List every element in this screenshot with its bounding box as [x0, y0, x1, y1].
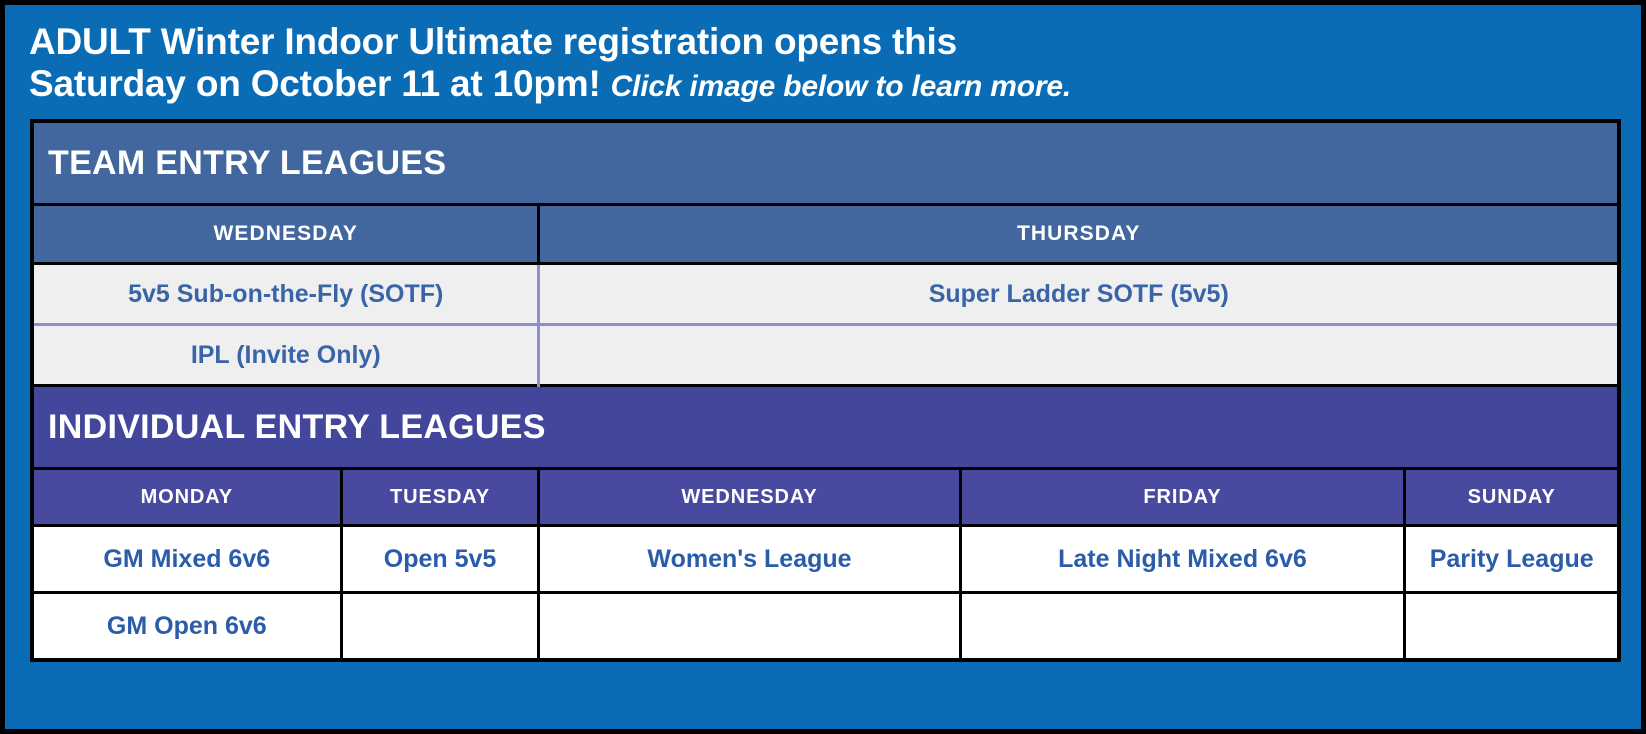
- individual-league-wednesday-1[interactable]: Women's League: [539, 526, 960, 593]
- team-league-row: 5v5 Sub-on-the-Fly (SOTF) Super Ladder S…: [34, 264, 1617, 325]
- poster-frame: ADULT Winter Indoor Ultimate registratio…: [0, 0, 1646, 734]
- team-section-title: TEAM ENTRY LEAGUES: [34, 123, 1617, 205]
- individual-league-sunday-1[interactable]: Parity League: [1405, 526, 1617, 593]
- individual-day-header-sunday: SUNDAY: [1405, 469, 1617, 526]
- headline-line-1: ADULT Winter Indoor Ultimate registratio…: [29, 21, 1619, 63]
- individual-section-title: INDIVIDUAL ENTRY LEAGUES: [34, 386, 1617, 469]
- team-league-thursday-2: [539, 325, 1617, 386]
- team-day-header-wednesday: WEDNESDAY: [34, 205, 539, 264]
- individual-section-header-row: INDIVIDUAL ENTRY LEAGUES: [34, 386, 1617, 469]
- individual-day-header-monday: MONDAY: [34, 469, 341, 526]
- individual-league-wednesday-2: [539, 593, 960, 659]
- individual-day-header-friday: FRIDAY: [960, 469, 1405, 526]
- team-league-row: IPL (Invite Only): [34, 325, 1617, 386]
- league-schedule-table: TEAM ENTRY LEAGUES WEDNESDAY THURSDAY 5v…: [34, 123, 1617, 658]
- cta-text: Click image below to learn more.: [601, 70, 1071, 103]
- individual-league-row: GM Mixed 6v6 Open 5v5 Women's League Lat…: [34, 526, 1617, 593]
- individual-league-row: GM Open 6v6: [34, 593, 1617, 659]
- individual-league-tuesday-2: [341, 593, 539, 659]
- team-league-wednesday-2[interactable]: IPL (Invite Only): [34, 325, 539, 386]
- headline-line-2-text: Saturday on October 11 at 10pm!: [29, 63, 601, 104]
- team-day-header-thursday: THURSDAY: [539, 205, 1617, 264]
- team-day-header-row: WEDNESDAY THURSDAY: [34, 205, 1617, 264]
- individual-league-monday-1[interactable]: GM Mixed 6v6: [34, 526, 341, 593]
- individual-league-friday-1[interactable]: Late Night Mixed 6v6: [960, 526, 1405, 593]
- schedule-table-wrapper: TEAM ENTRY LEAGUES WEDNESDAY THURSDAY 5v…: [30, 119, 1621, 662]
- headline-line-2: Saturday on October 11 at 10pm!Click ima…: [29, 63, 1619, 105]
- team-league-thursday-1[interactable]: Super Ladder SOTF (5v5): [539, 264, 1617, 325]
- individual-league-tuesday-1[interactable]: Open 5v5: [341, 526, 539, 593]
- team-section-header-row: TEAM ENTRY LEAGUES: [34, 123, 1617, 205]
- individual-day-header-tuesday: TUESDAY: [341, 469, 539, 526]
- team-league-wednesday-1[interactable]: 5v5 Sub-on-the-Fly (SOTF): [34, 264, 539, 325]
- individual-day-header-row: MONDAY TUESDAY WEDNESDAY FRIDAY SUNDAY: [34, 469, 1617, 526]
- individual-league-monday-2[interactable]: GM Open 6v6: [34, 593, 341, 659]
- individual-league-friday-2: [960, 593, 1405, 659]
- announcement-banner: ADULT Winter Indoor Ultimate registratio…: [5, 5, 1641, 113]
- individual-league-sunday-2: [1405, 593, 1617, 659]
- individual-day-header-wednesday: WEDNESDAY: [539, 469, 960, 526]
